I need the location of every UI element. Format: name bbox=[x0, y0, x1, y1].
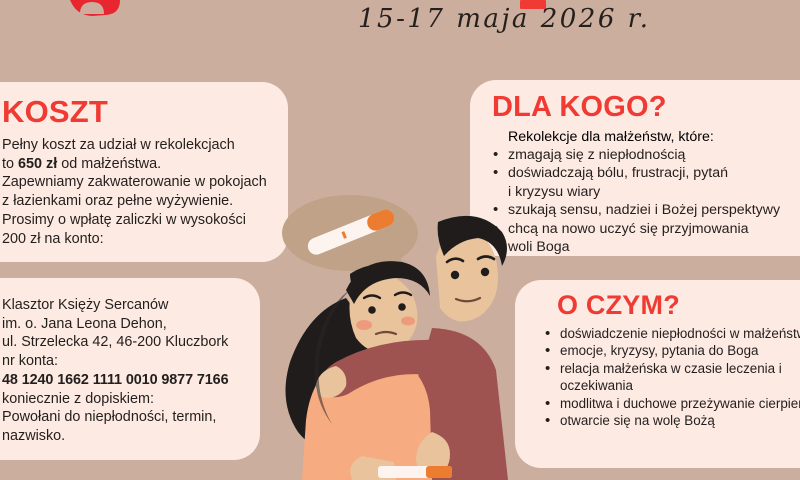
cost-body: Pełny koszt za udział w rekolekcjach to … bbox=[2, 136, 270, 248]
topic-item-3-line2: cierpienia bbox=[759, 396, 800, 411]
list-item: relacja małżeńska w czasie leczenia i oc… bbox=[543, 360, 800, 395]
topic-item-2-line2: oczekiwania bbox=[560, 378, 633, 393]
topic-item-0-line2: w małżeństwie bbox=[730, 326, 800, 341]
audience-item-0-line1: zmagają się z niepłodnością bbox=[508, 147, 685, 163]
list-item: emocje, kryzysy, pytania do Boga bbox=[543, 342, 800, 359]
brand-logo: PRZYSTAŃ DLA RODZIN DOM REKOLEKCYJNY KSI… bbox=[62, 0, 252, 32]
logo-mark-icon bbox=[62, 0, 122, 16]
transfer-note-line-2: nazwisko. bbox=[2, 428, 65, 444]
account-label: nr konta: bbox=[2, 353, 58, 369]
cost-line-2-post: od małżeństwa. bbox=[57, 156, 161, 172]
topic-item-0-line1: doświadczenie niepłodności bbox=[560, 326, 726, 341]
list-item: zmagają się z niepłodnością bbox=[492, 146, 800, 164]
cost-line-1: Pełny koszt za udział w rekolekcjach bbox=[2, 137, 235, 153]
man-head bbox=[436, 216, 507, 322]
topic-item-1-line1: emocje, kryzysy, pytania do Boga bbox=[560, 343, 758, 358]
list-item: otwarcie się na wolę Bożą bbox=[543, 412, 800, 429]
list-item: doświadczenie niepłodności w małżeństwie bbox=[543, 325, 800, 342]
poster-canvas: PRZYSTAŃ DLA RODZIN DOM REKOLEKCYJNY KSI… bbox=[0, 0, 800, 480]
pregnancy-test-icon bbox=[378, 466, 452, 478]
cost-amount: 650 zł bbox=[18, 156, 57, 172]
cost-heading: KOSZT bbox=[2, 96, 270, 127]
recipient-address: ul. Strzelecka 42, 46-200 Kluczbork bbox=[2, 334, 228, 350]
topic-item-4-line1: otwarcie się na wolę Bożą bbox=[560, 413, 715, 428]
cost-line-2-pre: to bbox=[2, 156, 18, 172]
audience-heading: DLA KOGO? bbox=[492, 93, 800, 122]
topic-item-2-line1: relacja małżeńska w czasie leczenia i bbox=[560, 361, 782, 376]
event-date: 15-17 maja 2026 r. bbox=[358, 4, 650, 34]
bank-details-card: Klasztor Księży Sercanów im. o. Jana Leo… bbox=[0, 278, 260, 460]
topic-item-3-line1: modlitwa i duchowe przeżywanie bbox=[560, 396, 755, 411]
logo-wordmark: PRZYSTAŃ DLA RODZIN bbox=[128, 0, 248, 2]
cost-line-3: Zapewniamy zakwaterowanie w pokojach bbox=[2, 174, 267, 190]
list-item: modlitwa i duchowe przeżywanie cierpieni… bbox=[543, 395, 800, 412]
transfer-note-line-1: Powołani do niepłodności, termin, bbox=[2, 409, 216, 425]
cost-line-5: Prosimy o wpłatę zaliczki w wysokości bbox=[2, 212, 246, 228]
cost-card: KOSZT Pełny koszt za udział w rekolekcja… bbox=[0, 82, 288, 262]
topics-list: doświadczenie niepłodności w małżeństwie… bbox=[543, 325, 800, 430]
topics-heading: O CZYM? bbox=[557, 292, 800, 319]
recipient-line-2: im. o. Jana Leona Dehon, bbox=[2, 316, 167, 332]
transfer-note-label: koniecznie z dopiskiem: bbox=[2, 391, 154, 407]
woman-head bbox=[346, 261, 430, 352]
couple-illustration bbox=[250, 170, 570, 480]
recipient-line-1: Klasztor Księży Sercanów bbox=[2, 297, 168, 313]
bank-details-body: Klasztor Księży Sercanów im. o. Jana Leo… bbox=[2, 296, 246, 446]
cost-line-6: 200 zł na konto: bbox=[2, 231, 104, 247]
logo-wordmark-line2: DLA RODZIN bbox=[128, 0, 248, 2]
account-number: 48 1240 1662 1111 0010 9877 7166 bbox=[2, 372, 229, 388]
audience-intro: Rekolekcje dla małżeństw, które: bbox=[508, 129, 800, 145]
cost-line-4: z łazienkami oraz pełne wyżywienie. bbox=[2, 193, 233, 209]
